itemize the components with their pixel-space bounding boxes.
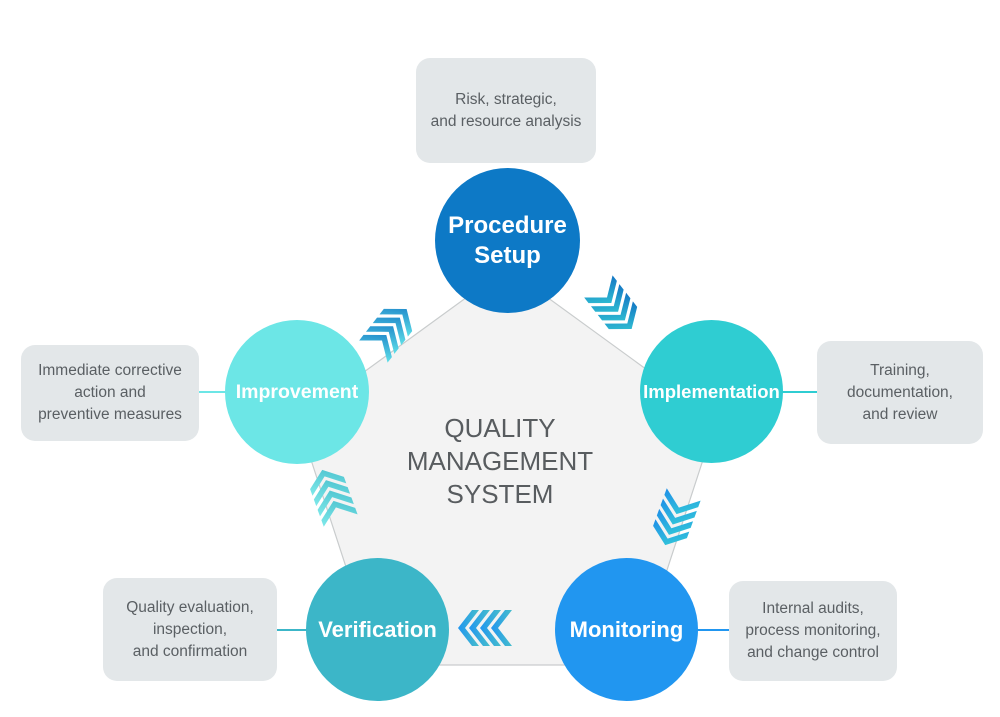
node-verification[interactable]: Verification xyxy=(306,558,449,701)
node-monitoring-label: Monitoring xyxy=(570,617,684,643)
callout-improvement-text: Immediate corrective action and preventi… xyxy=(38,360,182,426)
node-verification-label: Verification xyxy=(318,617,437,643)
callout-monitoring-text: Internal audits, process monitoring, and… xyxy=(745,598,880,664)
callout-implementation: Training, documentation, and review xyxy=(817,341,983,444)
callout-verification-text: Quality evaluation, inspection, and conf… xyxy=(126,597,254,663)
node-improvement-label: Improvement xyxy=(236,381,358,404)
node-implementation[interactable]: Implementation xyxy=(640,320,783,463)
node-procedure-setup-label: Procedure Setup xyxy=(448,211,567,270)
callout-verification: Quality evaluation, inspection, and conf… xyxy=(103,578,277,681)
callout-procedure-setup: Risk, strategic, and resource analysis xyxy=(416,58,596,163)
node-procedure-setup[interactable]: Procedure Setup xyxy=(435,168,580,313)
center-title: QUALITY MANAGEMENT SYSTEM xyxy=(380,412,620,510)
node-improvement[interactable]: Improvement xyxy=(225,320,369,464)
diagram-canvas: Risk, strategic, and resource analysis T… xyxy=(0,0,1000,717)
callout-improvement: Immediate corrective action and preventi… xyxy=(21,345,199,441)
callout-monitoring: Internal audits, process monitoring, and… xyxy=(729,581,897,681)
callout-implementation-text: Training, documentation, and review xyxy=(847,360,953,426)
callout-procedure-setup-text: Risk, strategic, and resource analysis xyxy=(431,89,582,133)
node-implementation-label: Implementation xyxy=(643,381,780,403)
node-monitoring[interactable]: Monitoring xyxy=(555,558,698,701)
